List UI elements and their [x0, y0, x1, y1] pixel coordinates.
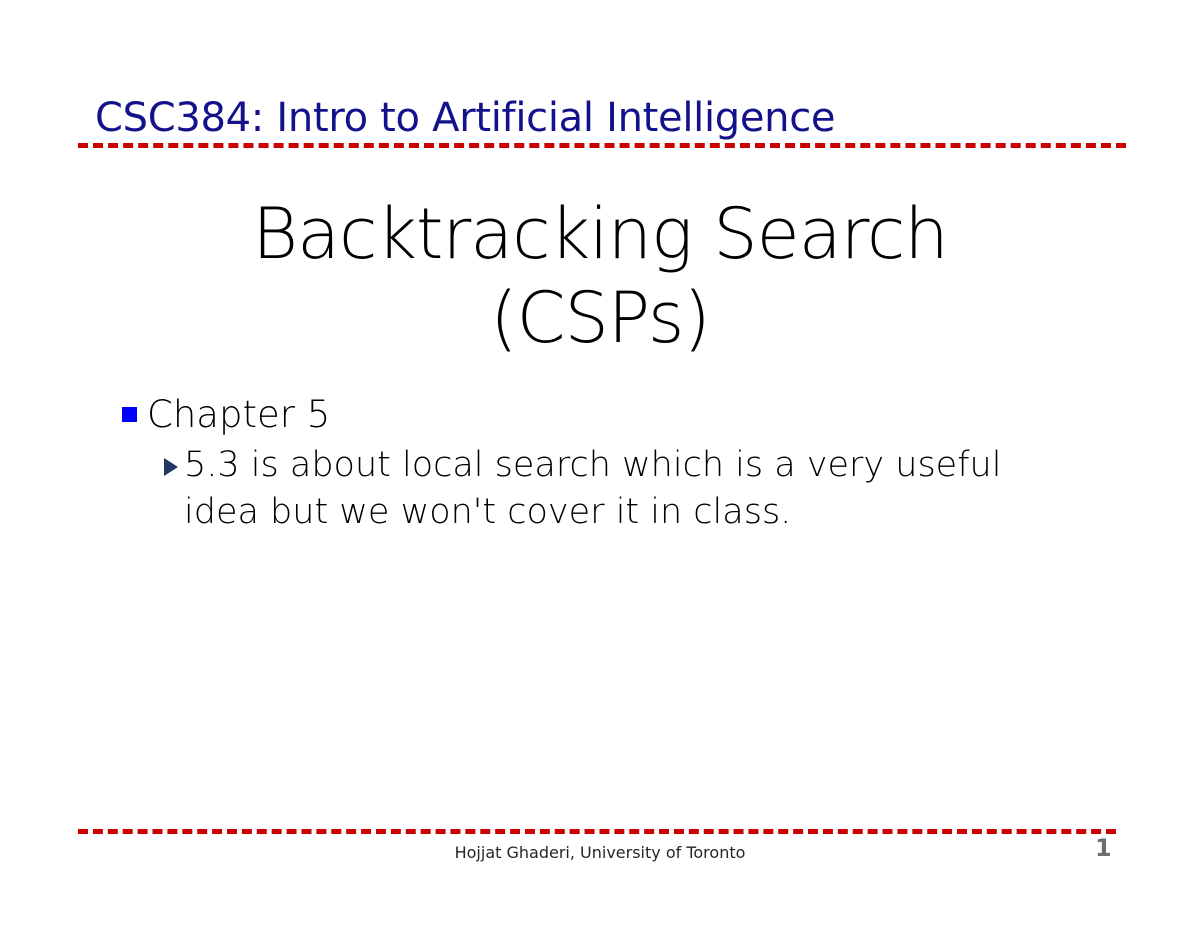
- footer-divider-dashed-red: [78, 829, 1116, 834]
- footer-attribution: Hojjat Ghaderi, University of Toronto: [100, 843, 1100, 863]
- header-divider-dashed-red: [78, 143, 1126, 148]
- course-title: CSC384: Intro to Artificial Intelligence: [95, 96, 995, 140]
- slide-header: CSC384: Intro to Artificial Intelligence: [95, 96, 995, 144]
- bullet-item-level2-label: 5.3 is about local search which is a ver…: [184, 442, 1049, 536]
- page-number: 1: [1095, 834, 1135, 862]
- bullet-item-level1-label: Chapter 5: [147, 392, 330, 438]
- slide-title: Backtracking Search (CSPs): [100, 192, 1100, 360]
- slide-title-line-1: Backtracking Search: [100, 192, 1100, 276]
- bullet-item-level2: 5.3 is about local search which is a ver…: [164, 442, 1082, 536]
- slide-title-line-2: (CSPs): [100, 276, 1100, 360]
- slide-canvas: CSC384: Intro to Artificial Intelligence…: [0, 0, 1200, 927]
- triangle-bullet-icon: [164, 458, 178, 476]
- square-bullet-icon: [122, 407, 137, 422]
- bullet-list: Chapter 5 5.3 is about local search whic…: [122, 392, 1082, 536]
- bullet-item-level1: Chapter 5: [122, 392, 1082, 438]
